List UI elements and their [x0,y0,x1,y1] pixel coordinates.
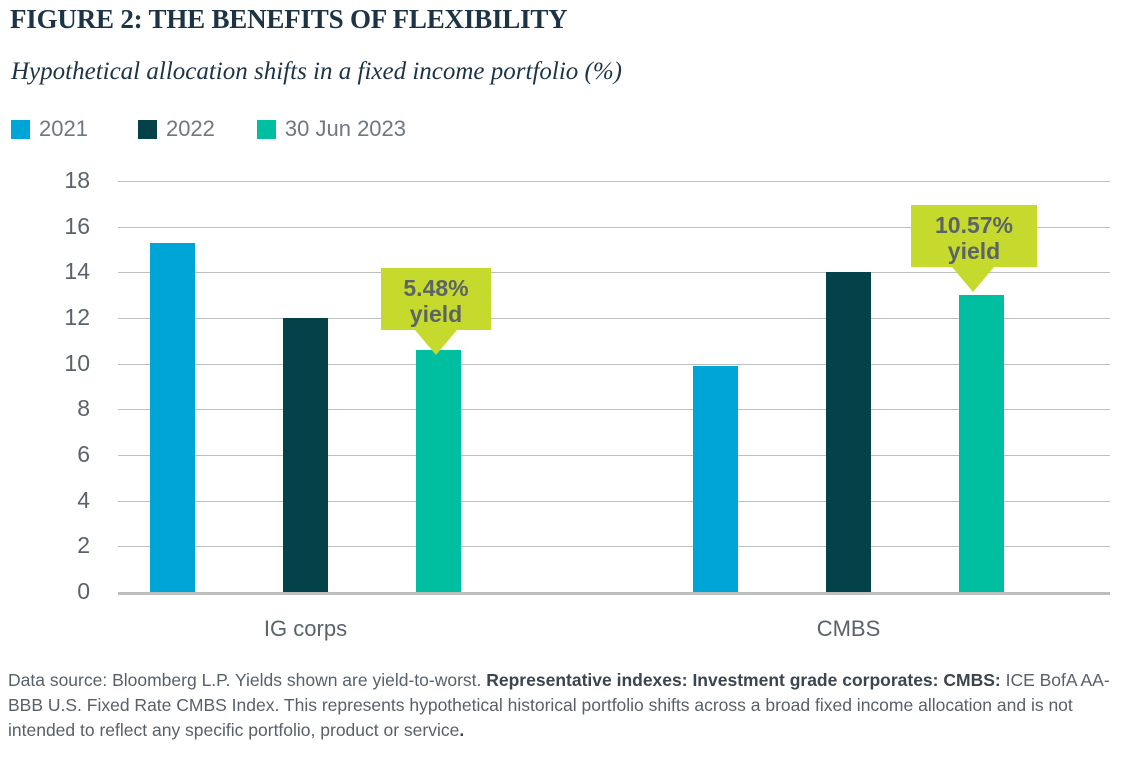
y-axis-tick-label: 18 [0,167,90,194]
gridline [118,592,1110,595]
legend-swatch-30-jun-2023 [257,120,276,139]
gridline [118,318,1110,319]
plot-area [118,181,1110,592]
yield-callout-caption: yield [925,239,1023,265]
y-axis-tick-label: 8 [0,395,90,422]
yield-callout-value: 5.48% [403,275,468,301]
bar-ig-corps-2021[interactable] [150,243,195,592]
yield-callout-value: 10.57% [935,212,1013,238]
yield-callout-caption: yield [395,302,477,328]
legend-item-2022[interactable]: 2022 [138,116,215,142]
figure-title: FIGURE 2: THE BENEFITS OF FLEXIBILITY [10,4,567,35]
gridline [118,272,1110,273]
bar-ig-corps-30-jun-2023[interactable] [416,350,461,592]
figure-subtitle: Hypothetical allocation shifts in a fixe… [11,58,622,86]
gridline [118,546,1110,547]
gridline [118,501,1110,502]
y-axis-tick-label: 10 [0,350,90,377]
x-axis-label-ig-corps: IG corps [264,616,347,642]
gridline [118,364,1110,365]
legend-label-30-jun-2023: 30 Jun 2023 [285,116,406,142]
y-axis-tick-label: 6 [0,441,90,468]
y-axis-tick-label: 2 [0,532,90,559]
footnote-bold-2: . [459,720,464,740]
yield-callout-pointer-1 [415,330,457,355]
legend-swatch-2021 [11,120,30,139]
yield-callout-2: 10.57%yield [911,205,1037,267]
footnote-bold-1: Representative indexes: Investment grade… [486,670,1000,690]
legend-label-2021: 2021 [39,116,88,142]
gridline [118,227,1110,228]
y-axis-tick-label: 12 [0,304,90,331]
yield-callout-1: 5.48%yield [381,268,491,330]
gridline [118,455,1110,456]
bar-cmbs-2022[interactable] [826,272,871,592]
y-axis-tick-label: 16 [0,213,90,240]
gridline [118,409,1110,410]
y-axis-tick-label: 14 [0,258,90,285]
y-axis-tick-label: 4 [0,487,90,514]
bar-chart: 024681012141618 IG corpsCMBS 5.48%yield1… [0,0,1125,761]
legend-swatch-2022 [138,120,157,139]
gridline [118,181,1110,182]
footnote-part-1: Data source: Bloomberg L.P. Yields shown… [8,670,486,690]
bar-cmbs-30-jun-2023[interactable] [959,295,1004,592]
legend-item-30-jun-2023[interactable]: 30 Jun 2023 [257,116,406,142]
yield-callout-pointer-2 [952,267,994,292]
bar-ig-corps-2022[interactable] [283,318,328,592]
bar-cmbs-2021[interactable] [693,366,738,592]
legend-label-2022: 2022 [166,116,215,142]
x-axis-label-cmbs: CMBS [817,616,881,642]
figure-container: FIGURE 2: THE BENEFITS OF FLEXIBILITY Hy… [0,0,1125,761]
y-axis-tick-label: 0 [0,578,90,605]
legend-item-2021[interactable]: 2021 [11,116,88,142]
footnote: Data source: Bloomberg L.P. Yields shown… [8,668,1120,743]
chart-legend: 2021 2022 30 Jun 2023 [11,116,406,142]
